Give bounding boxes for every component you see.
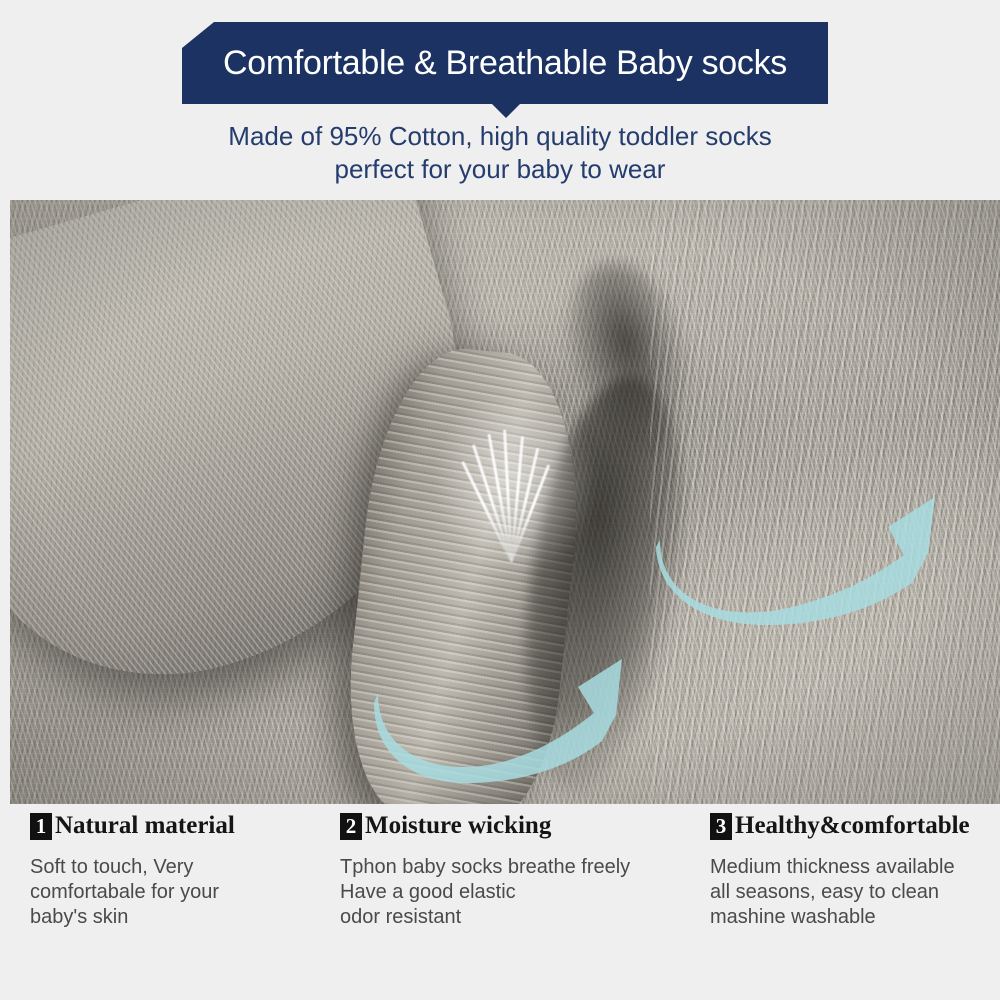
feature-1-line-1: Soft to touch, Very <box>30 855 330 880</box>
feature-2-title: Moisture wicking <box>365 812 551 840</box>
feature-3-title: Healthy&comfortable <box>735 812 970 840</box>
feature-1-body: Soft to touch, Very comfortabale for you… <box>30 855 330 930</box>
feature-3-body: Medium thickness available all seasons, … <box>710 855 992 930</box>
feature-card-1: 1 Natural material Soft to touch, Very c… <box>30 812 330 930</box>
feature-2-body: Tphon baby socks breathe freely Have a g… <box>340 855 715 930</box>
feature-2-line-2: Have a good elastic <box>340 880 715 905</box>
banner-title-text: Comfortable & Breathable Baby socks <box>223 44 787 83</box>
product-infographic: Comfortable & Breathable Baby socks Made… <box>0 0 1000 1000</box>
feature-1-title: Natural material <box>55 812 235 840</box>
product-photo <box>10 200 1000 804</box>
breathability-arrow-upper-icon <box>650 475 940 625</box>
feature-1-line-3: baby's skin <box>30 905 330 930</box>
breathability-arrow-lower-icon <box>370 645 630 795</box>
feature-1-heading: 1 Natural material <box>30 812 330 840</box>
feature-3-number-badge: 3 <box>710 813 732 840</box>
feature-3-line-1: Medium thickness available <box>710 855 992 880</box>
header-section: Comfortable & Breathable Baby socks Made… <box>0 0 1000 200</box>
feature-2-heading: 2 Moisture wicking <box>340 812 715 840</box>
features-section: 1 Natural material Soft to touch, Very c… <box>0 812 1000 1000</box>
banner-pointer-icon <box>491 103 521 118</box>
feature-3-heading: 3 Healthy&comfortable <box>710 812 992 840</box>
feature-3-line-2: all seasons, easy to clean <box>710 880 992 905</box>
feature-3-line-3: mashine washable <box>710 905 992 930</box>
feature-2-line-3: odor resistant <box>340 905 715 930</box>
subtitle-line-1: Made of 95% Cotton, high quality toddler… <box>0 120 1000 153</box>
feature-card-2: 2 Moisture wicking Tphon baby socks brea… <box>340 812 715 930</box>
feature-2-line-1: Tphon baby socks breathe freely <box>340 855 715 880</box>
feature-1-number-badge: 1 <box>30 813 52 840</box>
subtitle-block: Made of 95% Cotton, high quality toddler… <box>0 120 1000 186</box>
feature-card-3: 3 Healthy&comfortable Medium thickness a… <box>710 812 992 930</box>
feature-1-line-2: comfortabale for your <box>30 880 330 905</box>
title-banner: Comfortable & Breathable Baby socks <box>182 22 828 104</box>
subtitle-line-2: perfect for your baby to wear <box>0 153 1000 186</box>
feature-2-number-badge: 2 <box>340 813 362 840</box>
